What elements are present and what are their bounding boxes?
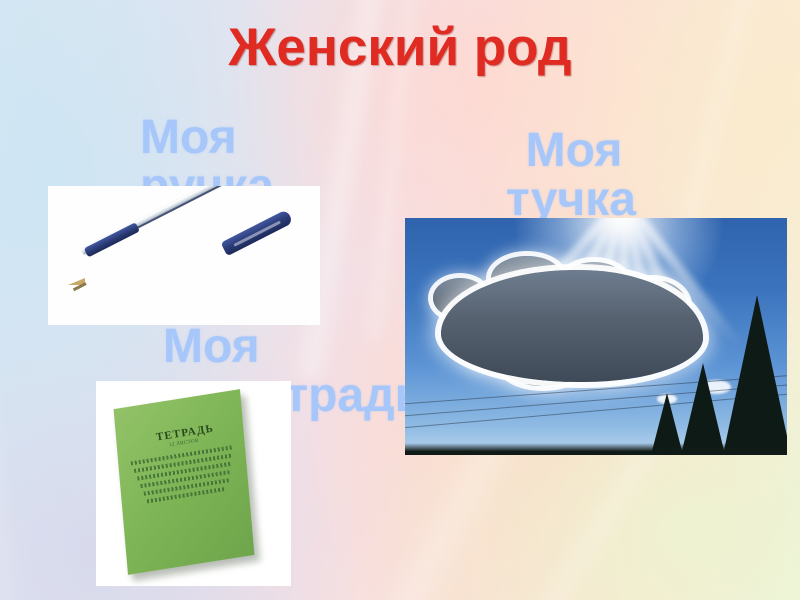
pen-photo-background: [48, 186, 320, 325]
background-light-streak: [0, 329, 25, 600]
photo-notebook: ТЕТРАДЬ 12 ЛИСТОВ: [96, 381, 291, 586]
pen-grip: [84, 222, 140, 257]
caption-notebook-possessive: Моя: [163, 320, 260, 373]
caption-pen-possessive: Моя: [140, 111, 237, 164]
slide-canvas: Женский род Моя ручка Моя тучка Моя тетр…: [0, 0, 800, 600]
photo-cloud: [405, 218, 787, 455]
fir-tree: [681, 363, 725, 455]
cloud-photo-background: [405, 218, 787, 455]
caption-cloud-possessive: Моя: [526, 124, 623, 177]
fir-tree: [723, 295, 787, 455]
horizon-ground: [405, 443, 787, 455]
photo-pen: [48, 186, 320, 325]
slide-title: Женский род: [0, 17, 800, 78]
caption-cloud: Моя тучка: [512, 127, 636, 225]
notebook-photo-background: ТЕТРАДЬ 12 ЛИСТОВ: [96, 381, 291, 586]
